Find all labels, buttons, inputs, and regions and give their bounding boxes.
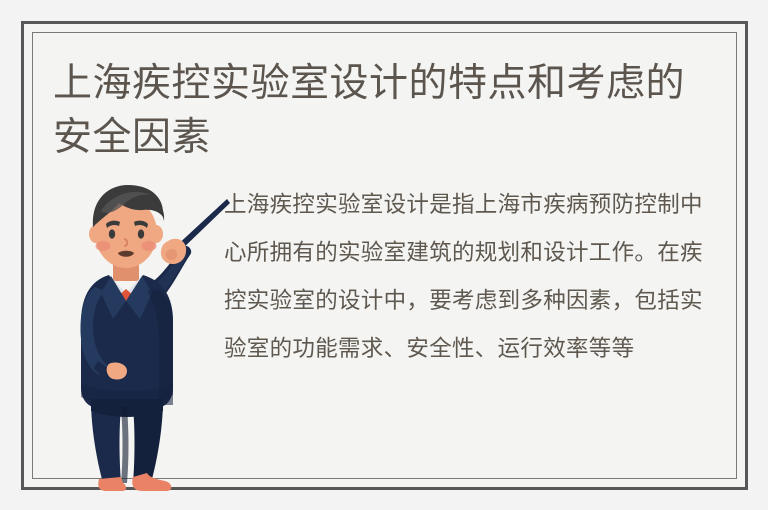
businessman-with-pointer-illustration: [55, 171, 230, 493]
article-card-inner-border: 上海疾控实验室设计的特点和考虑的安全因素: [32, 32, 737, 479]
article-card: 上海疾控实验室设计的特点和考虑的安全因素: [21, 21, 748, 490]
article-content: 上海疾控实验室设计是指上海市疾病预防控制中心所拥有的实验室建筑的规划和设计工作。…: [33, 171, 736, 478]
article-body-text: 上海疾控实验室设计是指上海市疾病预防控制中心所拥有的实验室建筑的规划和设计工作。…: [224, 181, 720, 373]
page-title: 上海疾控实验室设计的特点和考虑的安全因素: [53, 57, 721, 165]
